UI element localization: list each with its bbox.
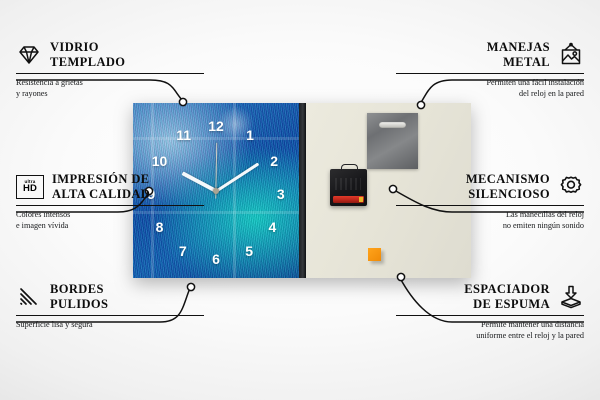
clock-minute-hand	[215, 162, 259, 192]
feature-description: Superficie lisa y segura	[16, 319, 204, 330]
divider	[396, 315, 584, 316]
clock-numeral-4: 4	[269, 220, 277, 234]
clock-numeral-12: 12	[208, 119, 224, 133]
feature-title: ESPACIADOR DE ESPUMA	[396, 282, 550, 312]
clock-numeral-6: 6	[212, 252, 220, 266]
feature-title: MECANISMO SILENCIOSO	[396, 172, 550, 202]
divider	[16, 73, 204, 74]
clock-side-edge	[299, 103, 306, 278]
clock-numeral-1: 1	[246, 128, 254, 142]
feature-title: IMPRESIÓN DE ALTA CALIDAD	[52, 172, 204, 202]
feature-description: Permiten una fácil instalación del reloj…	[396, 77, 584, 100]
clock-numeral-5: 5	[245, 244, 253, 258]
polished-edge-icon	[16, 284, 42, 310]
gear-icon	[558, 174, 584, 200]
clock-numeral-7: 7	[179, 244, 187, 258]
clock-numeral-10: 10	[152, 154, 168, 168]
feature-description: Resistencia a grietas y rayones	[16, 77, 204, 100]
feature-title: VIDRIO TEMPLADO	[50, 40, 204, 70]
metal-hanger-plate	[367, 113, 418, 169]
hanging-frame-icon	[558, 42, 584, 68]
feature-description: Colores intensos e imagen vívida	[16, 209, 204, 232]
feature-manejas-metal: MANEJAS METAL Permiten una fácil instala…	[396, 40, 584, 99]
divider	[396, 73, 584, 74]
divider	[396, 205, 584, 206]
clock-numeral-11: 11	[176, 128, 191, 142]
divider	[16, 205, 204, 206]
feature-bordes-pulidos: BORDES PULIDOS Superficie lisa y segura	[16, 282, 204, 330]
feature-espaciador-espuma: ESPACIADOR DE ESPUMA Permite mantener un…	[396, 282, 584, 341]
clock-numeral-2: 2	[270, 154, 278, 168]
feature-vidrio-templado: VIDRIO TEMPLADO Resistencia a grietas y …	[16, 40, 204, 99]
divider	[16, 315, 204, 316]
foam-spacer	[368, 248, 381, 261]
aa-battery	[333, 196, 364, 203]
infographic-canvas: 12 1 2 3 4 5 6 7 8 9 10 11	[0, 0, 600, 400]
hanger-tab	[341, 164, 358, 171]
clock-numeral-3: 3	[277, 187, 285, 201]
ultra-hd-icon: ultra HD	[16, 175, 44, 199]
feature-title: BORDES PULIDOS	[50, 282, 204, 312]
clock-center-hub	[213, 188, 219, 194]
feature-impresion-alta-calidad: ultra HD IMPRESIÓN DE ALTA CALIDAD Color…	[16, 172, 204, 231]
diamond-icon	[16, 42, 42, 68]
quartz-movement-housing	[330, 169, 367, 206]
feature-mecanismo-silencioso: MECANISMO SILENCIOSO Las manecillas del …	[396, 172, 584, 231]
feature-title: MANEJAS METAL	[396, 40, 550, 70]
feature-description: Permite mantener una distancia uniforme …	[396, 319, 584, 342]
feature-description: Las manecillas del reloj no emiten ningú…	[396, 209, 584, 232]
press-down-layer-icon	[558, 284, 584, 310]
housing-vents	[335, 178, 361, 190]
